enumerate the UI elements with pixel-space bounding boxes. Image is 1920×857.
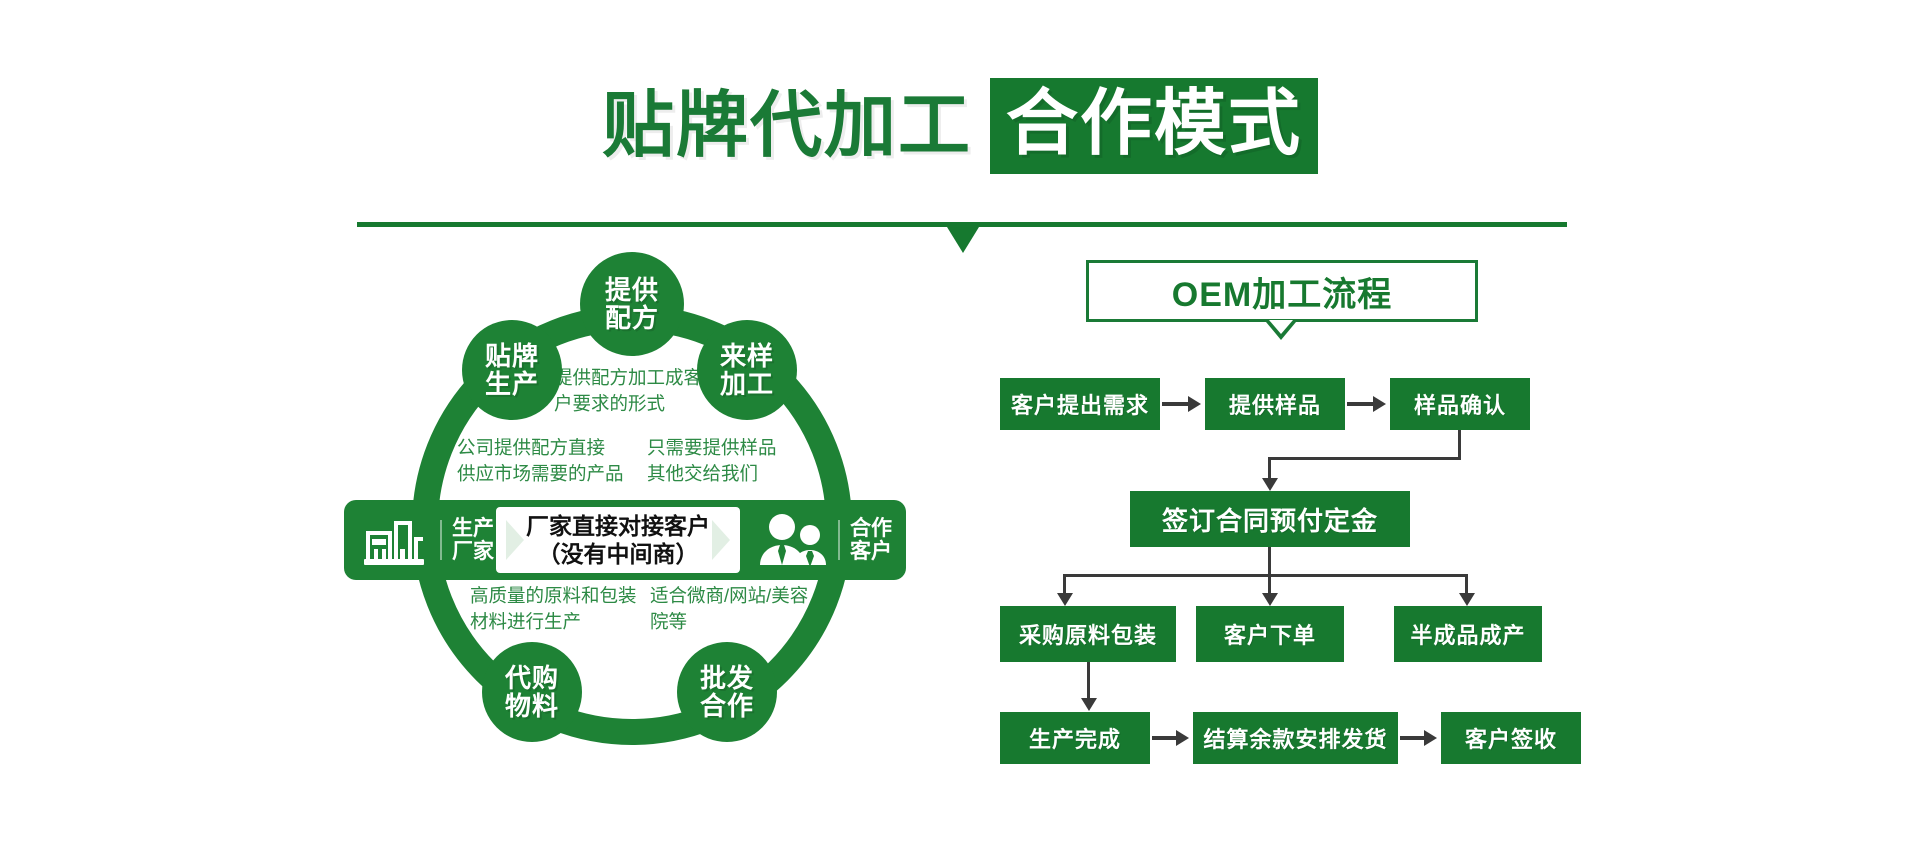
page-title: 贴牌代加工 合作模式 — [0, 78, 1920, 174]
connector-r4-b — [1400, 736, 1426, 740]
bar-separator-left — [440, 520, 442, 560]
arrow-right-r1-b-icon — [1373, 396, 1386, 412]
flow-box-provide-sample[interactable]: 提供样品 — [1205, 378, 1345, 430]
arrow-down-r3-a-icon — [1057, 593, 1073, 606]
flow-box-customer-order[interactable]: 客户下单 — [1196, 606, 1344, 662]
arrow-down-r4-icon — [1081, 698, 1097, 711]
arrow-right-r4-a-icon — [1176, 730, 1189, 746]
node-line-1: 批发 — [700, 664, 754, 692]
arrow-right-r4-b-icon — [1424, 730, 1437, 746]
flow-box-sign-contract[interactable]: 签订合同预付定金 — [1130, 491, 1410, 547]
oem-flowchart-heading: OEM加工流程 — [1086, 260, 1478, 322]
node-line-1: 来样 — [720, 342, 774, 370]
chevron-right-decor-icon — [712, 520, 730, 560]
direct-connection-bar: 生产 厂家 厂家直接对接客户 （没有中间商） 合作 客户 — [344, 500, 906, 580]
node-line-2: 合作 — [700, 692, 754, 720]
divider-arrow-icon — [947, 227, 979, 253]
desc-provide-formula: 提供配方加工成客 户要求的形式 — [554, 365, 702, 417]
flow-box-semi-finished[interactable]: 半成品成产 — [1394, 606, 1542, 662]
direct-connection-callout: 厂家直接对接客户 （没有中间商） — [496, 507, 740, 573]
customers-icon — [756, 513, 828, 567]
page-title-boxed: 合作模式 — [990, 78, 1318, 174]
connector-r1-across — [1268, 457, 1461, 460]
circle-node-wholesale[interactable]: 批发 合作 — [677, 642, 777, 742]
connector-r4-down — [1087, 662, 1090, 702]
flow-box-settle-balance[interactable]: 结算余款安排发货 — [1193, 712, 1398, 764]
flow-box-customer-receipt[interactable]: 客户签收 — [1441, 712, 1581, 764]
circle-node-oem-production[interactable]: 贴牌 生产 — [462, 320, 562, 420]
circle-node-material-purchase[interactable]: 代购 物料 — [482, 642, 582, 742]
arrow-down-r3-b-icon — [1262, 593, 1278, 606]
cooperation-circle-diagram: 提供配方加工成客 户要求的形式 公司提供配方直接 供应市场需要的产品 只需要提供… — [352, 260, 952, 810]
direct-connection-text: 厂家直接对接客户 （没有中间商） — [526, 512, 710, 568]
heading-pointer-inner-icon — [1269, 320, 1293, 334]
circle-node-sample-processing[interactable]: 来样 加工 — [697, 320, 797, 420]
arrow-down-r2-icon — [1262, 478, 1278, 491]
connector-r1-down — [1458, 430, 1461, 460]
node-line-2: 配方 — [605, 304, 659, 332]
desc-sample-processing: 只需要提供样品 其他交给我们 — [647, 435, 777, 487]
factory-label: 生产 厂家 — [452, 517, 494, 563]
flow-box-purchase-materials[interactable]: 采购原料包装 — [1000, 606, 1176, 662]
node-line-1: 提供 — [605, 276, 659, 304]
connector-r2-stem — [1268, 547, 1271, 576]
node-line-1: 贴牌 — [485, 342, 539, 370]
chevron-left-decor-icon — [506, 520, 524, 560]
node-line-1: 代购 — [505, 664, 559, 692]
node-line-2: 生产 — [485, 370, 539, 398]
factory-icon — [358, 513, 430, 567]
arrow-right-r1-a-icon — [1188, 396, 1201, 412]
connector-r1-b — [1347, 402, 1375, 406]
flow-box-production-complete[interactable]: 生产完成 — [1000, 712, 1150, 764]
desc-oem-production: 公司提供配方直接 供应市场需要的产品 — [457, 435, 624, 487]
page-title-plain: 贴牌代加工 — [602, 90, 972, 162]
oem-flowchart: OEM加工流程 客户提出需求 提供样品 样品确认 签订合同预付定金 采购原料包装… — [1000, 260, 1560, 810]
flow-box-sample-confirm[interactable]: 样品确认 — [1390, 378, 1530, 430]
node-line-2: 物料 — [505, 692, 559, 720]
connector-r4-a — [1152, 736, 1178, 740]
flow-box-customer-request[interactable]: 客户提出需求 — [1000, 378, 1160, 430]
circle-node-provide-formula[interactable]: 提供 配方 — [580, 252, 684, 356]
bar-separator-right — [838, 520, 840, 560]
connector-r1-a — [1162, 402, 1190, 406]
customers-label: 合作 客户 — [850, 517, 892, 563]
connector-r3-bus — [1063, 574, 1468, 577]
node-line-2: 加工 — [720, 370, 774, 398]
arrow-down-r3-c-icon — [1459, 593, 1475, 606]
oem-flowchart-heading-text: OEM加工流程 — [1172, 267, 1392, 316]
poster-root: 贴牌代加工 合作模式 提供配方加工成客 户要求的形式 公司提供配方直接 供应市场… — [0, 0, 1920, 857]
